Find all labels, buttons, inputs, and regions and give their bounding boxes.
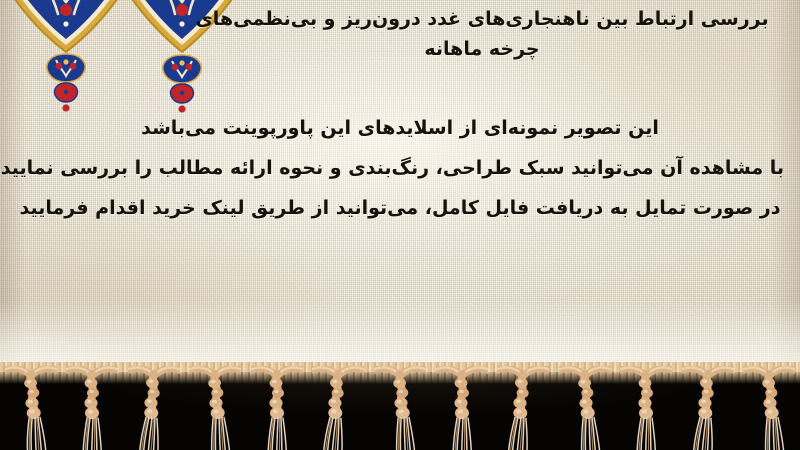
slide-title: بررسی ارتباط بین ناهنجاری‌های غدد درون‌ر… <box>182 4 782 64</box>
fringe-tassel <box>682 366 734 450</box>
slide-body-line-3: در صورت تمایل به دریافت فایل کامل، می‌تو… <box>16 188 784 228</box>
fringe-tassel <box>559 366 611 450</box>
slide-body-line-2: با مشاهده آن می‌توانید سبک طراحی، رنگ‌بن… <box>16 148 784 188</box>
fringe-tassel <box>189 366 241 450</box>
slide-body: این تصویر نمونه‌ای از اسلایدهای این پاور… <box>16 108 784 228</box>
fringe-tassel <box>374 366 426 450</box>
fringe-tassel <box>251 366 303 450</box>
fringe-tassel <box>66 366 118 450</box>
slide-body-line-1: این تصویر نمونه‌ای از اسلایدهای این پاور… <box>16 108 784 148</box>
fringe-tassel <box>436 366 488 450</box>
fringe-tassel <box>312 366 364 450</box>
fringe-tassel <box>5 366 57 450</box>
slide-title-line-1: بررسی ارتباط بین ناهنجاری‌های غدد درون‌ر… <box>182 4 782 34</box>
fringe-tassel <box>620 366 672 450</box>
fringe-tassel <box>128 366 180 450</box>
presentation-slide: بررسی ارتباط بین ناهنجاری‌های غدد درون‌ر… <box>0 0 800 450</box>
fringe-tassel <box>743 366 795 450</box>
slide-title-line-2: چرخه ماهانه <box>182 34 782 64</box>
fringe-tassel <box>497 366 549 450</box>
